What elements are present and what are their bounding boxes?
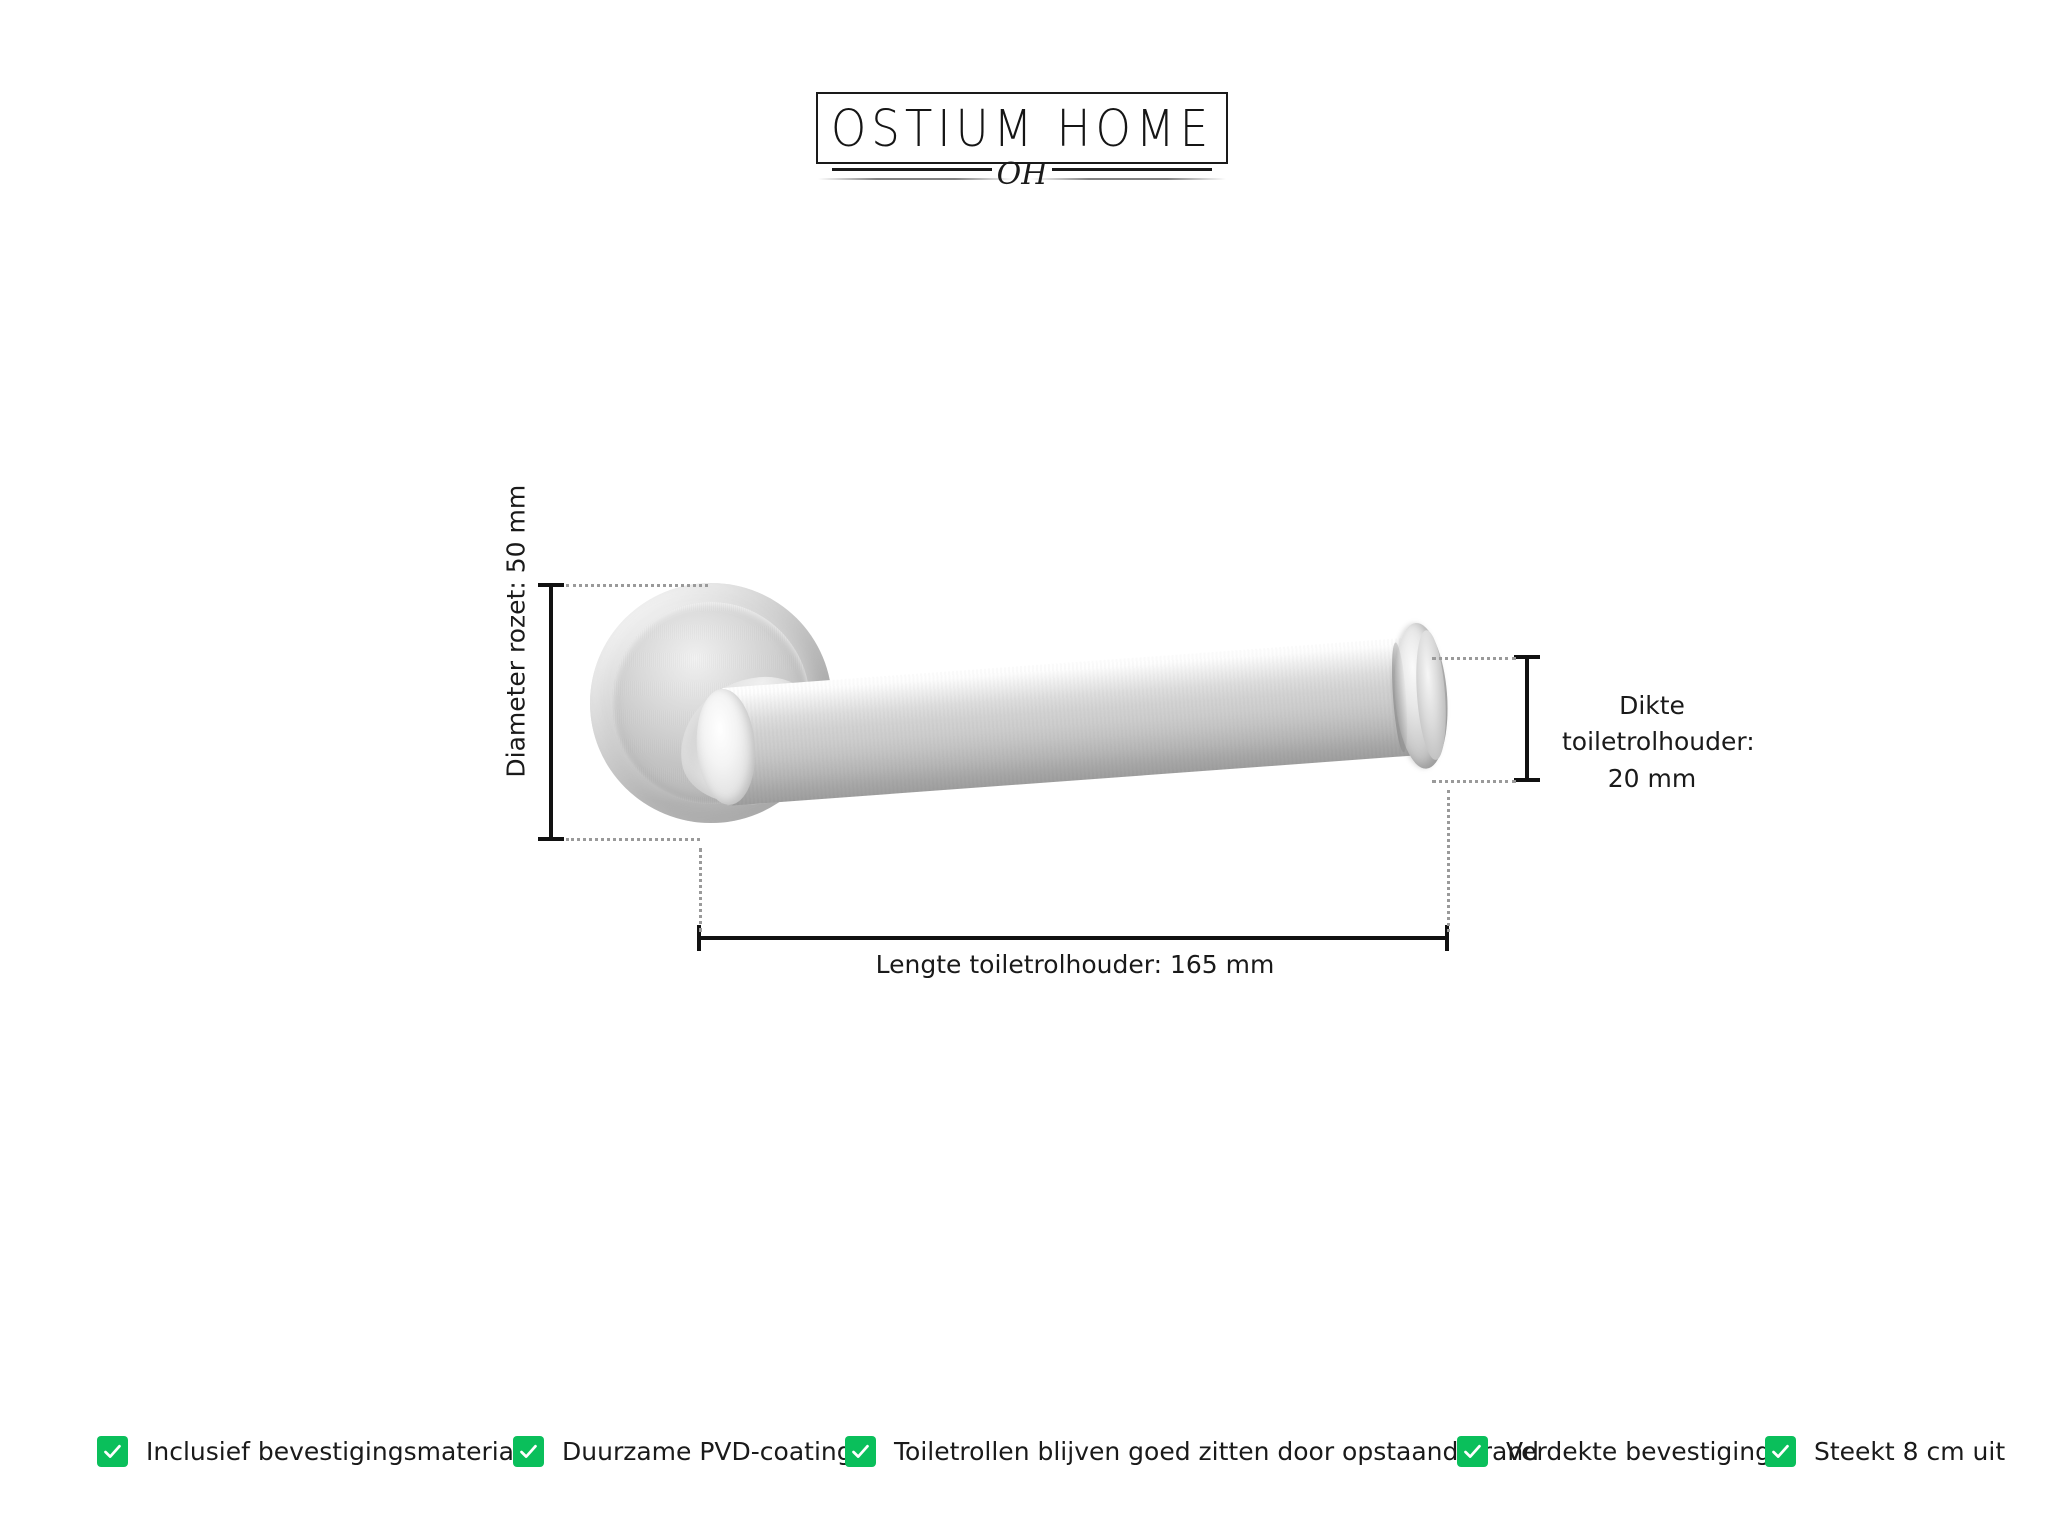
feature-label: Steekt 8 cm uit (1814, 1439, 2005, 1464)
dimension-label-line-2: toiletrolhouder: (1562, 724, 1742, 760)
check-icon (1457, 1436, 1488, 1467)
feature-label: Inclusief bevestigingsmateriaal (146, 1439, 536, 1464)
dimension-line-holder-thickness (1525, 655, 1529, 782)
dimension-label-holder-length: Lengte toiletrolhouder: 165 mm (697, 950, 1453, 979)
feature-item-2: Duurzame PVD-coating (513, 1424, 853, 1478)
feature-label: Duurzame PVD-coating (562, 1439, 853, 1464)
feature-item-5: Steekt 8 cm uit (1765, 1424, 2005, 1478)
check-icon (97, 1436, 128, 1467)
dimension-label-line-1: Dikte (1562, 688, 1742, 724)
dimension-line-holder-length (697, 936, 1449, 940)
dimension-label-line-3: 20 mm (1562, 761, 1742, 797)
check-icon (845, 1436, 876, 1467)
dimension-leader-top (566, 584, 708, 587)
dimension-leader-left (699, 848, 702, 932)
dimension-line-rosette-diameter (549, 583, 553, 841)
dimension-leader-right (1447, 790, 1450, 932)
feature-label: Verdekte bevestiging (1506, 1439, 1771, 1464)
dimension-cap-top (1514, 655, 1540, 659)
dimension-leader-bottom (566, 838, 700, 841)
check-icon (513, 1436, 544, 1467)
feature-label: Toiletrollen blijven goed zitten door op… (894, 1439, 1539, 1464)
dimension-cap-bottom (538, 837, 564, 841)
dimension-leader-top (1432, 657, 1516, 660)
dimension-cap-top (538, 583, 564, 587)
feature-list: Inclusief bevestigingsmateriaal Duurzame… (0, 1424, 2048, 1478)
feature-item-1: Inclusief bevestigingsmateriaal (97, 1424, 536, 1478)
dimension-label-holder-thickness: Dikte toiletrolhouder: 20 mm (1562, 688, 1742, 797)
dimension-cap-bottom (1514, 778, 1540, 782)
product-image: Diameter rozet: 50 mm Dikte toiletrolhou… (0, 0, 2048, 1514)
dimension-label-rosette-diameter: Diameter rozet: 50 mm (500, 510, 531, 778)
check-icon (1765, 1436, 1796, 1467)
dimension-leader-bottom (1432, 780, 1516, 783)
feature-item-4: Verdekte bevestiging (1457, 1424, 1771, 1478)
feature-item-3: Toiletrollen blijven goed zitten door op… (845, 1424, 1539, 1478)
